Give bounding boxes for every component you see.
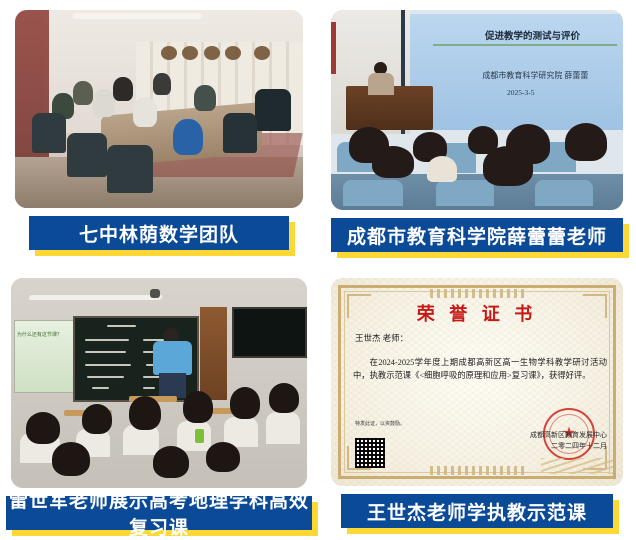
photo-lecture-hall: 促进教学的测试与评价 成都市教育科学研究院 薛蕾蕾 2025-3-5 [331,10,623,210]
lecture-hall-scene: 促进教学的测试与评价 成都市教育科学研究院 薛蕾蕾 2025-3-5 [331,10,623,210]
caption-text: 成都市教育科学院薛蕾蕾老师 [331,218,623,252]
meeting-room-scene [15,10,303,208]
classroom-scene: 为什么还有这节课？ [11,278,307,488]
certificate-body: 在2024-2025学年度上期成都高新区高一生物学科教学研讨活动中，执教示范课《… [353,356,607,383]
slide-title: 促进教学的测试与评价 [448,28,617,42]
certificate-issue-date: 二零二四年十二月 [530,441,607,452]
camera-icon [150,289,160,298]
photo-certificate: 荣 誉 证 书 王世杰 老师： 在2024-2025学年度上期成都高新区高一生物… [331,278,623,486]
speaker [366,62,396,96]
caption-text: 七中林荫数学团队 [29,216,289,250]
panel-wang-shijie: 荣 誉 证 书 王世杰 老师： 在2024-2025学年度上期成都高新区高一生物… [318,268,636,536]
photo-classroom: 为什么还有这节课？ [11,278,307,488]
certificate-note: 特发此证，以资鼓励。 [355,420,405,427]
certificate-issuer-block: 成都高新区教育发展中心 二零二四年十二月 [530,430,607,452]
projector-note: 为什么还有这节课？ [17,331,70,338]
panel-math-team: 七中林荫数学团队 [0,0,318,268]
certificate-title: 荣 誉 证 书 [331,300,623,326]
certificate-issuer: 成都高新区教育发展中心 [530,430,607,441]
certificate: 荣 誉 证 书 王世杰 老师： 在2024-2025学年度上期成都高新区高一生物… [331,278,623,486]
tv-monitor [232,307,307,357]
panel-xue-leilei: 促进教学的测试与评价 成都市教育科学研究院 薛蕾蕾 2025-3-5 [318,0,636,268]
caption-text: 王世杰老师学执教示范课 [341,494,613,528]
slide-subtitle: 成都市教育科学研究院 薛蕾蕾 [454,70,618,81]
photo-collage: 七中林荫数学团队 促进教学的测试与评价 成都市教育科学研究院 薛蕾蕾 2025-… [0,0,636,536]
caption-xue-leilei: 成都市教育科学院薛蕾蕾老师 [331,218,623,252]
caption-text: 雷世军老师展示高考地理学科高效复习课 [6,496,312,530]
qr-code [355,438,385,468]
photo-math-team [15,10,303,208]
caption-math-team: 七中林荫数学团队 [29,216,289,250]
caption-lei-shijun: 雷世军老师展示高考地理学科高效复习课 [6,496,312,530]
panel-lei-shijun: 为什么还有这节课？ [0,268,318,536]
caption-wang-shijie: 王世杰老师学执教示范课 [341,494,613,528]
certificate-salutation: 王世杰 老师： [355,332,408,344]
slide-date: 2025-3-5 [477,88,565,97]
